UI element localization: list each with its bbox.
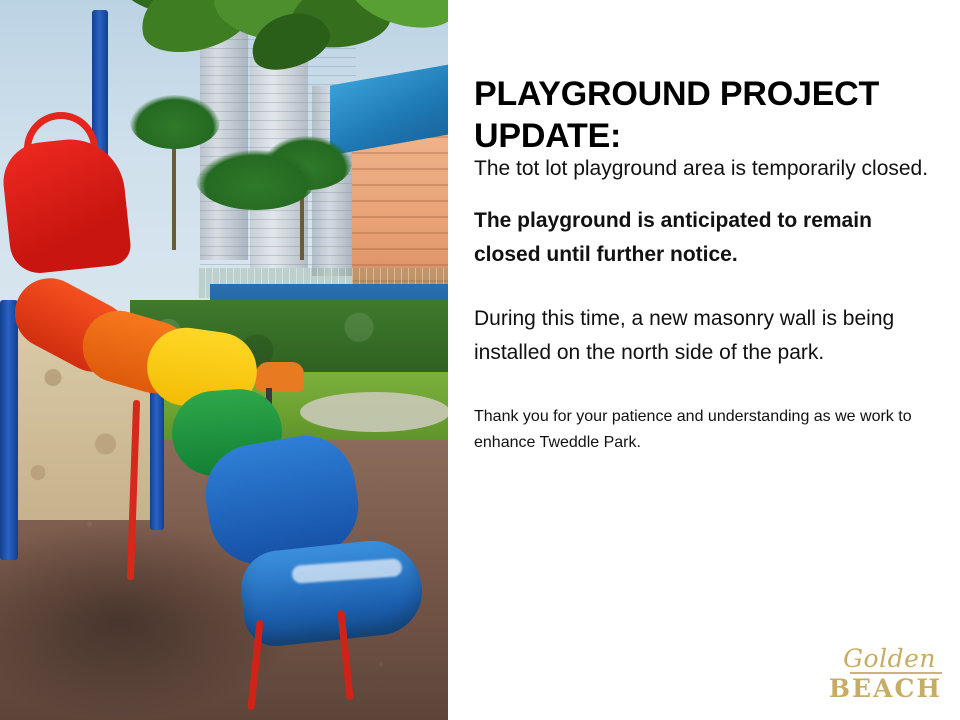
paragraph-emphasis: The playground is anticipated to remain … [474, 204, 944, 272]
announcement-panel: PLAYGROUND PROJECT UPDATE: The tot lot p… [448, 0, 960, 720]
slide: PLAYGROUND PROJECT UPDATE: The tot lot p… [0, 0, 960, 720]
golden-beach-logo: Golden BEACH [792, 646, 942, 706]
palm-crown-3 [196, 150, 316, 210]
playground-photo [0, 0, 448, 720]
logo-text-beach: BEACH [792, 676, 942, 702]
rainbow-slide [12, 250, 432, 630]
page-title: PLAYGROUND PROJECT UPDATE: [474, 73, 944, 157]
slide-leg [127, 400, 140, 580]
paragraph-thanks: Thank you for your patience and understa… [474, 404, 944, 455]
announcement-body: The tot lot playground area is temporari… [474, 152, 944, 469]
logo-divider [850, 672, 942, 674]
tree-foliage [120, 0, 448, 110]
paragraph-detail: During this time, a new masonry wall is … [474, 302, 944, 370]
paragraph-intro: The tot lot playground area is temporari… [474, 152, 944, 186]
logo-text-golden: Golden [792, 646, 936, 671]
